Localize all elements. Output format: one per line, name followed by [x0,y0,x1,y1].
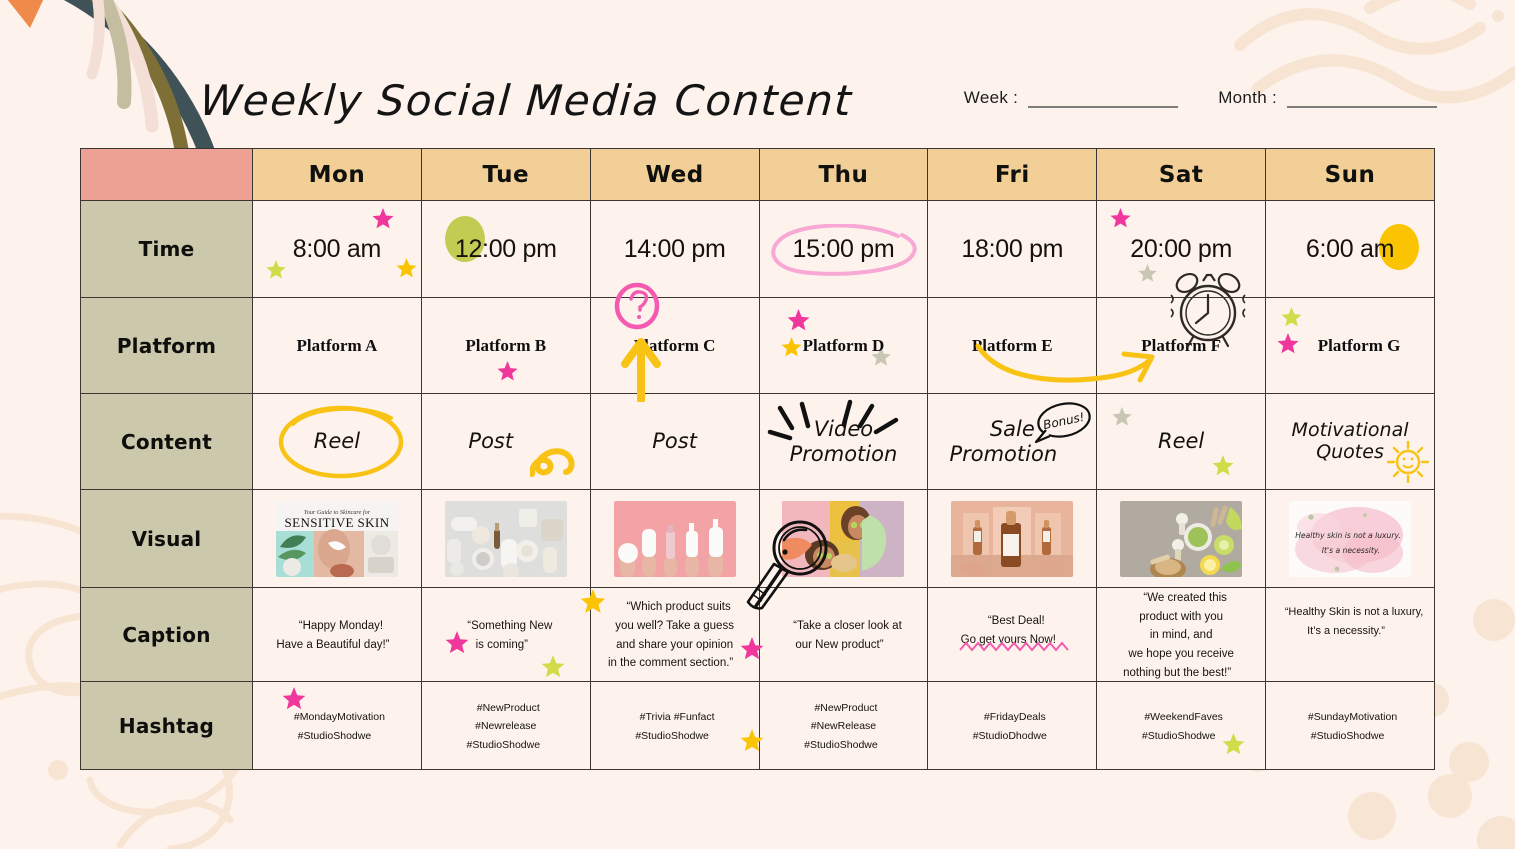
hashtag-value-thu: #NewProduct #NewRelease #StudioShodwe [804,702,883,752]
time-value-fri: 18:00 pm [961,235,1063,263]
cell-content-sun[interactable]: Motivational Quotes [1266,394,1435,490]
cell-platform-thu[interactable]: Platform D [759,298,928,394]
star-icon [496,360,519,383]
platform-value-tue: Platform B [465,336,546,355]
visual-thumb-tue[interactable] [445,501,567,577]
content-value-fri: Sale Promotion [949,417,1057,465]
cell-visual-sat[interactable] [1097,490,1266,588]
table-row-caption: Caption “Happy Monday! Have a Beautiful … [81,588,1435,682]
star-icon [540,654,566,680]
hashtag-value-wed: #Trivia #Funfact #StudioShodwe [635,711,715,742]
cell-caption-thu[interactable]: “Take a closer look at our New product” [759,588,928,682]
visual-thumb-mon[interactable]: Your Guide to Skincare for SENSITIVE SKI… [276,501,398,577]
caption-value-mon: “Happy Monday! Have a Beautiful day!” [276,620,397,651]
table-header-row: Mon Tue Wed Thu Fri Sat Sun [81,149,1435,201]
hashtag-value-sat: #WeekendFaves #StudioShodwe [1139,711,1223,742]
natural-ingredients-flatlay [1120,501,1242,577]
star-icon [444,630,470,656]
cell-content-fri[interactable]: Sale Promotion Bonus! [928,394,1097,490]
star-icon [395,257,418,280]
star-icon [780,336,803,359]
content-value-thu: Video Promotion [790,417,898,465]
row-label-visual: Visual [81,490,253,588]
table-row-content: Content Reel Post Post Video Promotion [81,394,1435,490]
star-icon [1211,454,1235,478]
row-label-content: Content [81,394,253,490]
table-row-visual: Visual Your Guide to Skincare for SENSIT… [81,490,1435,588]
cell-visual-wed[interactable] [590,490,759,588]
cell-platform-fri[interactable]: Platform E [928,298,1097,394]
platform-value-mon: Platform A [297,336,378,355]
yellow-curly-swirl-doodle [530,424,592,482]
day-header-thu: Thu [759,149,928,201]
cell-content-wed[interactable]: Post [590,394,759,490]
star-icon [1280,306,1303,329]
time-value-sun: 6:00 am [1306,235,1394,263]
cell-caption-wed[interactable]: “Which product suits you well? Take a gu… [590,588,759,682]
platform-value-thu: Platform D [803,336,885,355]
cell-caption-fri[interactable]: “Best Deal! Go get yours Now! [928,588,1097,682]
two-women-cucumber-mask [782,501,904,577]
day-header-mon: Mon [253,149,422,201]
dropper-bottles-peach [951,501,1073,577]
row-label-platform: Platform [81,298,253,394]
cell-content-sat[interactable]: Reel [1097,394,1266,490]
bonus-speech-bubble-doodle: Bonus! [1032,400,1094,448]
caption-value-wed: “Which product suits you well? Take a gu… [608,601,741,669]
star-icon [281,686,307,712]
caption-value-tue: “Something New is coming” [459,620,552,651]
cell-platform-mon[interactable]: Platform A [253,298,422,394]
time-value-tue: 12:00 pm [455,235,557,263]
weekly-planner-table: Mon Tue Wed Thu Fri Sat Sun Time 8:00 am… [80,148,1435,770]
hashtag-value-fri: #FridayDeals #StudioDhodwe [973,711,1052,742]
svg-text:Bonus!: Bonus! [1042,410,1086,432]
hashtag-value-tue: #NewProduct #Newrelease #StudioShodwe [466,702,545,752]
row-label-hashtag: Hashtag [81,682,253,770]
cell-platform-tue[interactable]: Platform B [421,298,590,394]
sun-smile-doodle [1384,438,1432,486]
day-header-sun: Sun [1266,149,1435,201]
month-input-line[interactable] [1287,92,1437,108]
week-field[interactable]: Week : [964,88,1178,108]
table-row-hashtag: Hashtag #MondayMotivation #StudioShodwe … [81,682,1435,770]
table-row-platform: Platform Platform A Platform B Platform … [81,298,1435,394]
cell-platform-wed[interactable]: Platform C [590,298,759,394]
cell-time-tue[interactable]: 12:00 pm [421,201,590,298]
visual-thumb-fri[interactable] [951,501,1073,577]
cell-platform-sun[interactable]: Platform G [1266,298,1435,394]
day-header-tue: Tue [421,149,590,201]
time-value-mon: 8:00 am [293,235,381,263]
cell-time-sun[interactable]: 6:00 am [1266,201,1435,298]
day-header-wed: Wed [590,149,759,201]
svg-text:SENSITIVE SKIN: SENSITIVE SKIN [284,515,389,530]
page-header: Weekly Social Media Content Week : Month… [0,60,1515,140]
star-icon [265,259,287,281]
caption-value-sun: “Healthy Skin is not a luxury, It’s a ne… [1277,606,1424,637]
cell-hashtag-tue[interactable]: #NewProduct #Newrelease #StudioShodwe [421,682,590,770]
day-header-fri: Fri [928,149,1097,201]
cell-visual-fri[interactable] [928,490,1097,588]
cell-time-wed[interactable]: 14:00 pm [590,201,759,298]
cell-visual-tue[interactable] [421,490,590,588]
star-icon [1276,332,1300,356]
platform-value-fri: Platform E [972,336,1053,355]
cell-caption-sat[interactable]: “We created this product with you in min… [1097,588,1266,682]
sensitive-skin-guide-collage: Your Guide to Skincare for SENSITIVE SKI… [276,501,398,577]
cell-visual-sun[interactable]: Healthy skin is not a luxury. It's a nec… [1266,490,1435,588]
month-label: Month : [1218,88,1277,108]
cell-caption-mon[interactable]: “Happy Monday! Have a Beautiful day!” [253,588,422,682]
cell-time-thu[interactable]: 15:00 pm [759,201,928,298]
hashtag-value-sun: #SundayMotivation #StudioShodwe [1303,711,1397,742]
month-field[interactable]: Month : [1218,88,1437,108]
row-label-caption: Caption [81,588,253,682]
svg-text:It's a necessity.: It's a necessity. [1322,546,1380,555]
platform-value-wed: Platform C [634,336,716,355]
orange-triangle [0,0,62,28]
cell-caption-sun[interactable]: “Healthy Skin is not a luxury, It’s a ne… [1266,588,1435,682]
content-value-sun: Motivational Quotes [1292,419,1409,463]
row-label-time: Time [81,201,253,298]
star-icon [786,308,811,333]
time-value-sat: 20:00 pm [1130,235,1232,263]
visual-thumb-sat[interactable] [1120,501,1242,577]
cell-time-fri[interactable]: 18:00 pm [928,201,1097,298]
caption-value-thu: “Take a closer look at our New product” [785,620,902,651]
cell-content-thu[interactable]: Video Promotion [759,394,928,490]
star-icon [1221,732,1246,757]
star-icon [1109,207,1132,230]
caption-value-sat: “We created this product with you in min… [1123,592,1239,679]
cell-content-tue[interactable]: Post [421,394,590,490]
cell-content-mon[interactable]: Reel [253,394,422,490]
cell-visual-thu[interactable] [759,490,928,588]
cell-visual-mon[interactable]: Your Guide to Skincare for SENSITIVE SKI… [253,490,422,588]
pink-watercolor-quote: Healthy skin is not a luxury. It's a nec… [1289,501,1411,577]
cell-time-sat[interactable]: 20:00 pm [1097,201,1266,298]
corner-cell [81,149,253,201]
platform-value-sat: Platform F [1141,336,1221,355]
visual-thumb-thu[interactable] [782,501,904,577]
cell-hashtag-thu[interactable]: #NewProduct #NewRelease #StudioShodwe [759,682,928,770]
cell-hashtag-sun[interactable]: #SundayMotivation #StudioShodwe [1266,682,1435,770]
table-row-time: Time 8:00 am 12:00 pm 14:00 pm 15:00 pm … [81,201,1435,298]
content-value-wed: Post [652,429,697,453]
content-value-tue: Post [468,429,513,453]
time-value-wed: 14:00 pm [624,235,726,263]
caption-value-fri: “Best Deal! Go get yours Now! [961,615,1064,646]
page-title: Weekly Social Media Content [198,76,854,125]
week-label: Week : [964,88,1018,108]
visual-thumb-wed[interactable] [614,501,736,577]
cell-hashtag-wed[interactable]: #Trivia #Funfact #StudioShodwe [590,682,759,770]
platform-value-sun: Platform G [1318,336,1401,355]
content-value-mon: Reel [314,429,360,453]
cell-hashtag-sat[interactable]: #WeekendFaves #StudioShodwe [1097,682,1266,770]
cell-hashtag-fri[interactable]: #FridayDeals #StudioDhodwe [928,682,1097,770]
hands-holding-products-pink [614,501,736,577]
star-icon [371,207,395,231]
cell-platform-sat[interactable]: Platform F [1097,298,1266,394]
content-value-sat: Reel [1158,429,1204,453]
svg-text:Healthy skin is not a luxury.: Healthy skin is not a luxury. [1295,531,1401,540]
cell-hashtag-mon[interactable]: #MondayMotivation #StudioShodwe [253,682,422,770]
meta-fields: Week : Month : [964,88,1437,112]
week-input-line[interactable] [1028,92,1178,108]
skincare-flatlay-grey [445,501,567,577]
time-value-thu: 15:00 pm [793,235,895,263]
cell-caption-tue[interactable]: “Something New is coming” [421,588,590,682]
day-header-sat: Sat [1097,149,1266,201]
star-icon [1137,263,1158,284]
star-icon [1111,406,1133,428]
cell-time-mon[interactable]: 8:00 am [253,201,422,298]
hashtag-value-mon: #MondayMotivation #StudioShodwe [289,711,385,742]
visual-thumb-sun[interactable]: Healthy skin is not a luxury. It's a nec… [1289,501,1411,577]
